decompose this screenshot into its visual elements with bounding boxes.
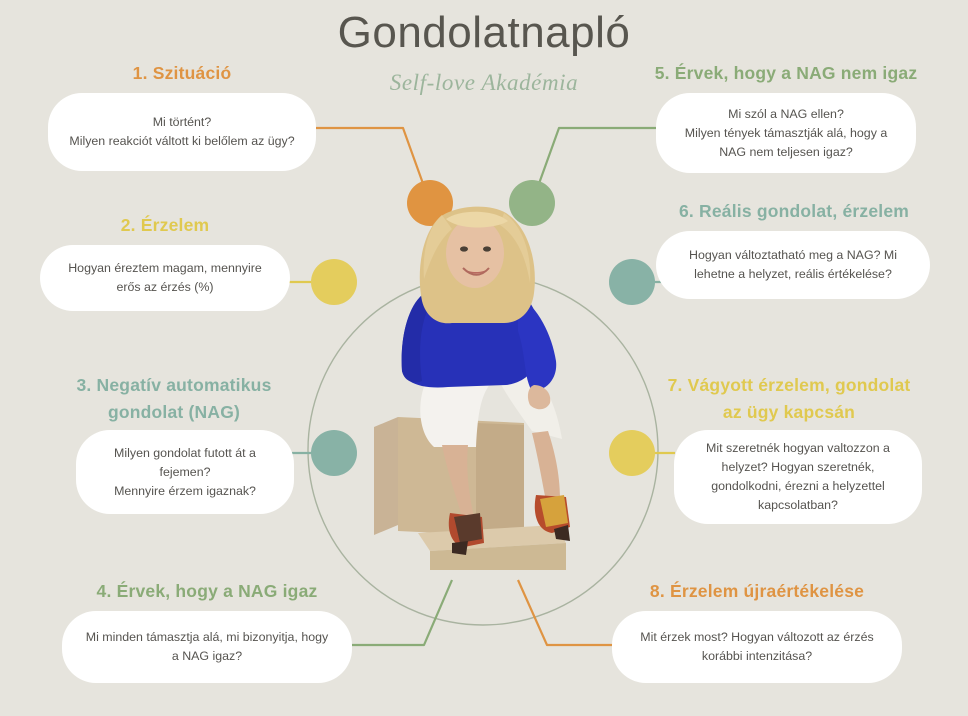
leg-right [532,431,560,501]
step-2-bubble: Hogyan éreztem magam, mennyire erős az é… [40,245,290,311]
step-3: 3. Negatív automatikus gondolat (NAG) Mi… [44,372,304,514]
step-4-label: 4. Érvek, hogy a NAG igaz [62,578,352,605]
step-6-bubble: Hogyan változtatható meg a NAG? Mi lehet… [656,231,930,299]
eye-left [460,246,468,251]
step-5: 5. Érvek, hogy a NAG nem igaz Mi szól a … [630,60,942,173]
step-5-label: 5. Érvek, hogy a NAG nem igaz [630,60,942,87]
step-8: 8. Érzelem újraértékelése Mit érzek most… [612,578,902,683]
eye-right [483,246,491,251]
step-3-bubble: Milyen gondolat futott át a fejemen? Men… [76,430,294,514]
hand-right [528,385,550,409]
box-main-shade [476,423,524,537]
step-1-bubble: Mi történt? Milyen reakciót váltott ki b… [48,93,316,171]
step-8-text: Mit érzek most? Hogyan változott az érzé… [632,628,882,666]
node-step-3 [311,430,357,476]
step-1-text: Mi történt? Milyen reakciót váltott ki b… [69,113,294,151]
node-step-2 [311,259,357,305]
step-5-bubble: Mi szól a NAG ellen? Milyen tények támas… [656,93,916,173]
step-8-label: 8. Érzelem újraértékelése [612,578,902,605]
step-7-bubble: Mit szeretnék hogyan valtozzon a helyzet… [674,430,922,524]
box-back-panel [374,417,398,535]
step-4-text: Mi minden támasztja alá, mi bizonyitja, … [82,628,332,666]
face [446,218,504,288]
step-3-label: 3. Negatív automatikus gondolat (NAG) [44,372,304,426]
step-2-label: 2. Érzelem [40,212,290,239]
step-1-label: 1. Szituáció [48,60,316,87]
step-7: 7. Vágyott érzelem, gondolat az ügy kapc… [638,372,940,524]
step-7-label: 7. Vágyott érzelem, gondolat az ügy kapc… [638,372,940,426]
step-5-text: Mi szól a NAG ellen? Milyen tények támas… [676,105,896,162]
step-8-bubble: Mit érzek most? Hogyan változott az érzé… [612,611,902,683]
step-7-text: Mit szeretnék hogyan valtozzon a helyzet… [694,439,902,515]
connector-step-4 [348,580,452,645]
step-6-text: Hogyan változtatható meg a NAG? Mi lehet… [676,246,910,284]
step-1: 1. Szituáció Mi történt? Milyen reakciót… [48,60,316,171]
step-2-text: Hogyan éreztem magam, mennyire erős az é… [60,259,270,297]
center-photo [356,195,626,570]
step-6-label: 6. Reális gondolat, érzelem [648,198,940,225]
shoe-left-heel [452,541,468,555]
step-2: 2. Érzelem Hogyan éreztem magam, mennyir… [40,212,290,311]
step-3-text: Milyen gondolat futott át a fejemen? Men… [96,444,274,501]
step-4-bubble: Mi minden támasztja alá, mi bizonyitja, … [62,611,352,683]
step-6: 6. Reális gondolat, érzelem Hogyan válto… [648,198,940,299]
figure-head [420,207,535,324]
step-4: 4. Érvek, hogy a NAG igaz Mi minden táma… [62,578,352,683]
connector-step-8 [518,580,618,645]
infographic-canvas: Gondolatnapló Self-love Akadémia [0,0,968,716]
